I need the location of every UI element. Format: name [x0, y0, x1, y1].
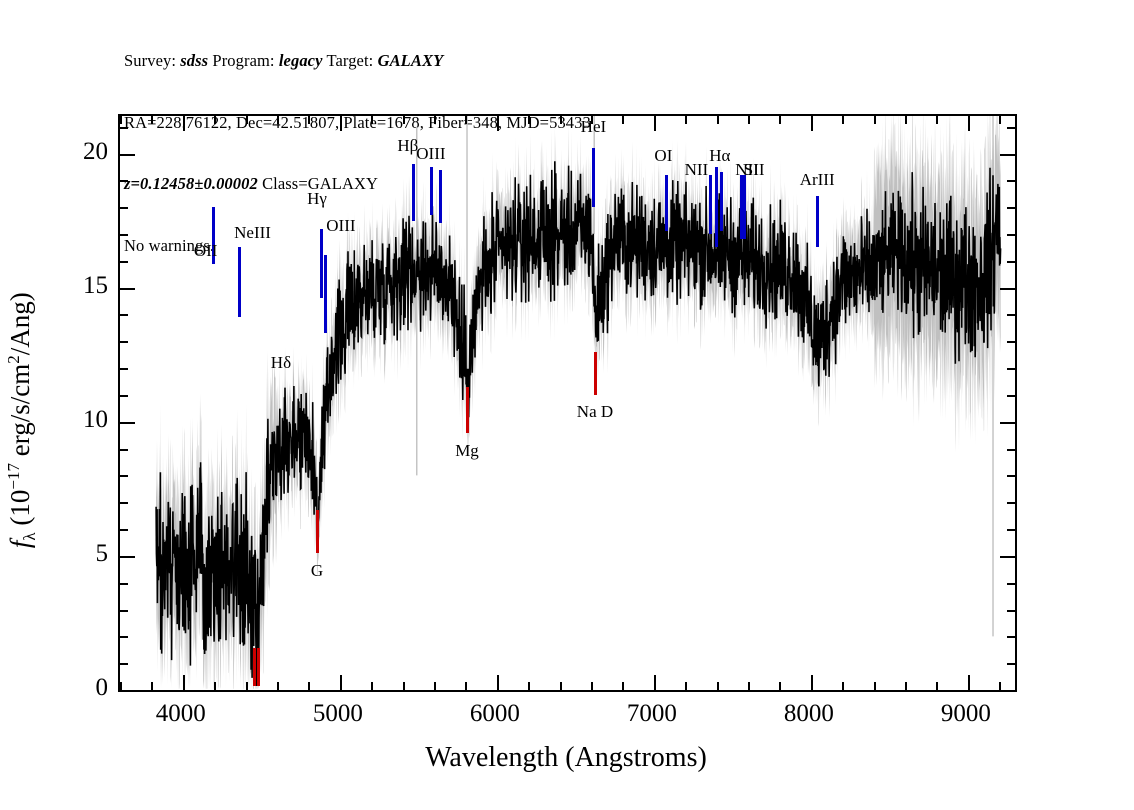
y-major-tick-right	[1000, 288, 1015, 290]
y-minor-tick-right	[1007, 261, 1015, 263]
y-minor-tick-right	[1007, 180, 1015, 182]
x-axis-title: Wavelength (Angstroms)	[425, 742, 707, 774]
x-major-tick-top	[968, 116, 970, 131]
line-marker-k	[253, 648, 256, 686]
x-minor-tick	[591, 682, 593, 690]
y-minor-tick	[120, 449, 128, 451]
line-marker-sii	[743, 175, 746, 239]
x-minor-tick	[214, 682, 216, 690]
x-minor-tick	[622, 682, 624, 690]
y-tick-label: 0	[60, 674, 108, 702]
x-major-tick-top	[497, 116, 499, 131]
line-marker-oiii	[324, 255, 327, 333]
line-marker-oi	[665, 175, 668, 231]
x-minor-tick-top	[308, 116, 310, 124]
y-minor-tick-right	[1007, 529, 1015, 531]
line-label-g: G	[311, 561, 323, 581]
y-minor-tick-right	[1007, 663, 1015, 665]
line-marker-hei	[592, 148, 595, 207]
x-minor-tick-top	[622, 116, 624, 124]
line-label-hγ: Hγ	[307, 189, 327, 209]
y-minor-tick	[120, 207, 128, 209]
y-minor-tick	[120, 502, 128, 504]
x-minor-tick-top	[591, 116, 593, 124]
y-minor-tick-right	[1007, 127, 1015, 129]
y-axis-units-exponent: 2	[4, 355, 23, 364]
line-marker-nii	[720, 172, 723, 231]
y-minor-tick	[120, 314, 128, 316]
x-minor-tick	[308, 682, 310, 690]
x-minor-tick-top	[120, 116, 122, 124]
line-label-na-d: Na D	[577, 402, 613, 422]
target-value: GALAXY	[378, 51, 444, 70]
x-minor-tick-top	[779, 116, 781, 124]
y-minor-tick-right	[1007, 234, 1015, 236]
line-label-oiii: OIII	[416, 144, 445, 164]
y-minor-tick-right	[1007, 502, 1015, 504]
line-label-neiii: NeIII	[234, 223, 271, 243]
x-minor-tick	[277, 682, 279, 690]
x-minor-tick	[874, 682, 876, 690]
x-minor-tick-top	[905, 116, 907, 124]
y-major-tick	[120, 690, 135, 692]
line-marker-hβ	[412, 164, 415, 220]
survey-prefix: Survey:	[124, 51, 180, 70]
x-tick-label: 5000	[313, 700, 363, 728]
y-axis-subscript: λ	[20, 532, 39, 540]
y-minor-tick	[120, 475, 128, 477]
x-major-tick	[497, 675, 499, 690]
y-major-tick	[120, 556, 135, 558]
y-axis-open: (10	[5, 490, 35, 533]
y-minor-tick	[120, 368, 128, 370]
x-minor-tick-top	[748, 116, 750, 124]
line-label-hδ: Hδ	[271, 353, 291, 373]
x-minor-tick-top	[214, 116, 216, 124]
x-tick-label: 7000	[627, 700, 677, 728]
x-minor-tick	[999, 682, 1001, 690]
x-minor-tick-top	[874, 116, 876, 124]
x-minor-tick	[403, 682, 405, 690]
y-minor-tick-right	[1007, 368, 1015, 370]
x-minor-tick	[151, 682, 153, 690]
line-label-nii: NII	[685, 160, 709, 180]
line-marker-mg	[466, 387, 469, 433]
y-axis-title: fλ (10−17 erg/s/cm2/Ang)	[4, 140, 40, 700]
x-minor-tick	[905, 682, 907, 690]
y-minor-tick-right	[1007, 475, 1015, 477]
x-tick-label: 9000	[941, 700, 991, 728]
y-axis-units-tail: /Ang)	[5, 292, 35, 355]
x-major-tick-top	[340, 116, 342, 131]
line-label-hβ: Hβ	[397, 136, 418, 156]
line-marker-neiii	[238, 247, 241, 317]
y-major-tick-right	[1000, 422, 1015, 424]
line-marker-hγ	[320, 229, 323, 299]
y-minor-tick-right	[1007, 207, 1015, 209]
line-label-mg: Mg	[455, 441, 479, 461]
y-minor-tick	[120, 127, 128, 129]
y-minor-tick	[120, 663, 128, 665]
y-minor-tick-right	[1007, 449, 1015, 451]
x-minor-tick	[246, 682, 248, 690]
x-minor-tick	[779, 682, 781, 690]
x-minor-tick-top	[999, 116, 1001, 124]
y-tick-label: 20	[60, 138, 108, 166]
y-major-tick-right	[1000, 690, 1015, 692]
y-major-tick	[120, 288, 135, 290]
spectrum-canvas: OIINeIIIHδHγOIIIHβOIIIHeIOINIIHαNIISIIAr…	[120, 116, 1015, 690]
y-axis-symbol: f	[5, 541, 35, 549]
y-major-tick	[120, 154, 135, 156]
x-major-tick-top	[183, 116, 185, 131]
y-minor-tick-right	[1007, 341, 1015, 343]
y-minor-tick	[120, 180, 128, 182]
program-value: legacy	[279, 51, 323, 70]
x-major-tick	[183, 675, 185, 690]
line-marker-hα	[715, 167, 718, 247]
x-minor-tick	[560, 682, 562, 690]
y-minor-tick	[120, 610, 128, 612]
x-minor-tick-top	[403, 116, 405, 124]
x-major-tick	[968, 675, 970, 690]
y-tick-label: 15	[60, 272, 108, 300]
program-prefix: Program:	[208, 51, 279, 70]
y-minor-tick-right	[1007, 583, 1015, 585]
y-major-tick-right	[1000, 556, 1015, 558]
target-prefix: Target:	[323, 51, 378, 70]
line-marker-ariii	[816, 196, 819, 247]
y-axis-units: erg/s/cm	[5, 364, 35, 463]
x-major-tick	[340, 675, 342, 690]
x-tick-label: 4000	[156, 700, 206, 728]
y-minor-tick-right	[1007, 636, 1015, 638]
y-tick-label: 5	[60, 540, 108, 568]
line-marker-nii	[709, 175, 712, 234]
x-minor-tick-top	[560, 116, 562, 124]
line-label-sii: SII	[744, 160, 765, 180]
y-axis-exponent: −17	[4, 463, 23, 490]
x-minor-tick-top	[371, 116, 373, 124]
x-minor-tick	[842, 682, 844, 690]
x-tick-label: 8000	[784, 700, 834, 728]
survey-value: sdss	[180, 51, 208, 70]
x-major-tick	[654, 675, 656, 690]
y-minor-tick-right	[1007, 314, 1015, 316]
line-marker-na-d	[594, 352, 597, 395]
line-label-ariii: ArIII	[800, 170, 835, 190]
x-tick-label: 6000	[470, 700, 520, 728]
line-marker-oiii	[439, 170, 442, 224]
x-minor-tick	[465, 682, 467, 690]
x-major-tick-top	[811, 116, 813, 131]
x-minor-tick-top	[277, 116, 279, 124]
y-minor-tick	[120, 341, 128, 343]
y-minor-tick	[120, 234, 128, 236]
y-minor-tick	[120, 636, 128, 638]
x-minor-tick	[371, 682, 373, 690]
line-label-oi: OI	[654, 146, 672, 166]
line-marker-oiii	[430, 167, 433, 215]
y-minor-tick	[120, 583, 128, 585]
line-marker-g	[316, 510, 319, 553]
y-minor-tick	[120, 261, 128, 263]
line-label-oiii: OIII	[326, 216, 355, 236]
x-minor-tick	[717, 682, 719, 690]
x-minor-tick-top	[528, 116, 530, 124]
line-label-hei: HeI	[581, 117, 606, 137]
x-major-tick-top	[654, 116, 656, 131]
x-minor-tick-top	[434, 116, 436, 124]
x-minor-tick-top	[717, 116, 719, 124]
line-marker-h	[257, 648, 260, 686]
y-minor-tick	[120, 529, 128, 531]
y-minor-tick-right	[1007, 395, 1015, 397]
x-minor-tick-top	[685, 116, 687, 124]
y-major-tick-right	[1000, 154, 1015, 156]
line-label-oii: OII	[194, 241, 218, 261]
x-minor-tick	[748, 682, 750, 690]
x-minor-tick	[434, 682, 436, 690]
spectrum-plot-frame: OIINeIIIHδHγOIIIHβOIIIHeIOINIIHαNIISIIAr…	[118, 114, 1017, 692]
x-minor-tick	[685, 682, 687, 690]
x-minor-tick-top	[842, 116, 844, 124]
y-minor-tick	[120, 395, 128, 397]
x-minor-tick	[936, 682, 938, 690]
spectrum-svg	[120, 116, 1015, 690]
x-minor-tick-top	[936, 116, 938, 124]
line-label-hα: Hα	[709, 146, 730, 166]
header-line-survey: Survey: sdss Program: legacy Target: GAL…	[124, 51, 1024, 72]
y-minor-tick-right	[1007, 610, 1015, 612]
x-minor-tick	[528, 682, 530, 690]
y-major-tick	[120, 422, 135, 424]
x-minor-tick-top	[246, 116, 248, 124]
x-minor-tick-top	[151, 116, 153, 124]
x-minor-tick-top	[465, 116, 467, 124]
y-tick-label: 10	[60, 406, 108, 434]
x-major-tick	[811, 675, 813, 690]
x-minor-tick	[120, 682, 122, 690]
